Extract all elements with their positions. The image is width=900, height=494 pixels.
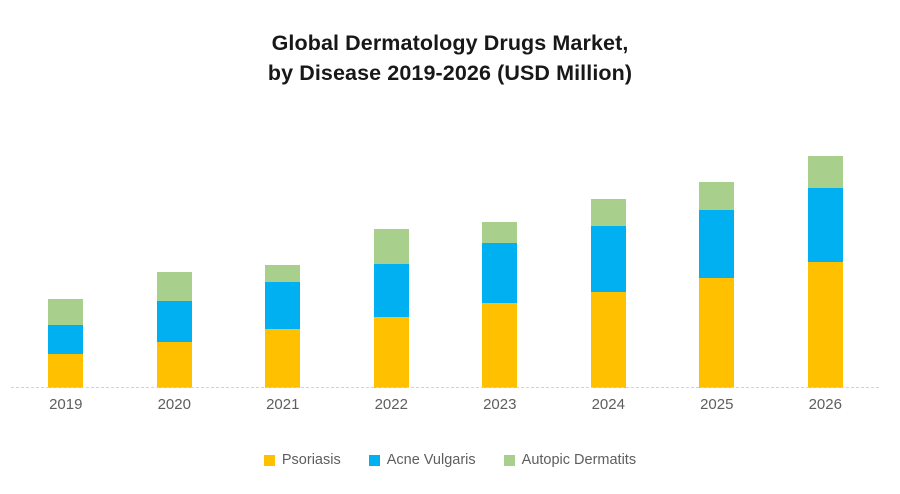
bar-segment <box>699 182 734 210</box>
legend-item-0[interactable]: Psoriasis <box>264 452 341 468</box>
bar-segment <box>48 299 83 325</box>
chart-title-line-2: by Disease 2019-2026 (USD Million) <box>0 58 900 88</box>
bar-column-2025 <box>699 182 734 388</box>
bar-segment <box>591 226 626 292</box>
x-axis-label-2024: 2024 <box>563 394 653 416</box>
x-axis-label-2023: 2023 <box>455 394 545 416</box>
bar-segment <box>482 222 517 243</box>
x-axis-tick-labels: 20192020202120222023202420252026 <box>11 394 879 418</box>
bar-segment <box>265 265 300 282</box>
bar-segment <box>699 210 734 278</box>
bar-segment <box>48 354 83 388</box>
stacked-bar-chart: Global Dermatology Drugs Market, by Dise… <box>0 0 900 494</box>
bar-segment <box>808 188 843 262</box>
x-axis-label-2020: 2020 <box>129 394 219 416</box>
bar-segment <box>699 278 734 388</box>
legend-label: Acne Vulgaris <box>387 452 476 468</box>
bar-column-2020 <box>157 272 192 388</box>
bar-segment <box>808 262 843 388</box>
bar-segment <box>48 325 83 354</box>
bar-segment <box>265 329 300 388</box>
legend-item-1[interactable]: Acne Vulgaris <box>369 452 476 468</box>
legend-swatch-icon <box>264 455 275 466</box>
chart-title-line-1: Global Dermatology Drugs Market, <box>0 28 900 58</box>
bar-segment <box>374 229 409 264</box>
plot-area <box>11 110 879 388</box>
x-axis-label-2019: 2019 <box>21 394 111 416</box>
legend-label: Psoriasis <box>282 452 341 468</box>
x-axis-label-2022: 2022 <box>346 394 436 416</box>
legend-swatch-icon <box>369 455 380 466</box>
bar-segment <box>808 156 843 188</box>
legend-item-2[interactable]: Autopic Dermatits <box>504 452 636 468</box>
bar-segment <box>157 342 192 388</box>
bar-column-2026 <box>808 156 843 388</box>
bar-column-2021 <box>265 265 300 388</box>
x-axis-label-2025: 2025 <box>672 394 762 416</box>
legend-swatch-icon <box>504 455 515 466</box>
bar-segment <box>591 292 626 388</box>
x-axis-label-2026: 2026 <box>780 394 870 416</box>
bar-segment <box>374 317 409 388</box>
bar-segment <box>482 243 517 303</box>
x-axis-label-2021: 2021 <box>238 394 328 416</box>
bar-column-2019 <box>48 299 83 388</box>
bar-segment <box>591 199 626 226</box>
bar-segment <box>374 264 409 317</box>
chart-legend: PsoriasisAcne VulgarisAutopic Dermatits <box>0 452 900 468</box>
bar-column-2024 <box>591 199 626 388</box>
bar-segment <box>157 272 192 301</box>
x-axis-line <box>11 387 879 388</box>
bar-column-2023 <box>482 222 517 388</box>
bar-segment <box>157 301 192 342</box>
legend-label: Autopic Dermatits <box>522 452 636 468</box>
chart-title: Global Dermatology Drugs Market, by Dise… <box>0 28 900 88</box>
bar-segment <box>482 303 517 388</box>
bar-segment <box>265 282 300 329</box>
bar-column-2022 <box>374 229 409 388</box>
